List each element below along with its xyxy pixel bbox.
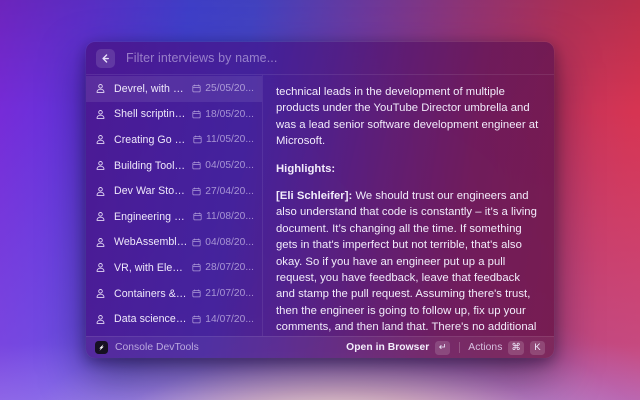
person-icon (95, 83, 106, 94)
back-button[interactable] (96, 49, 115, 68)
list-item-title: Dev War Stories,... (114, 185, 188, 197)
window-body: Devrel, with Chri...25/05/20...Shell scr… (86, 75, 554, 336)
person-icon (95, 237, 106, 248)
raycast-glyph-icon (97, 343, 106, 352)
interview-list[interactable]: Devrel, with Chri...25/05/20...Shell scr… (86, 75, 263, 336)
list-item[interactable]: Data science, wit...14/07/20... (86, 306, 262, 332)
list-item[interactable]: Building Tools D...04/05/20... (86, 153, 262, 179)
interview-detail-pane[interactable]: technical leads in the development of mu… (263, 75, 554, 336)
list-item-date: 11/08/20... (206, 211, 254, 222)
detail-quote-body: We should trust our engineers and also u… (276, 190, 541, 336)
list-item-date: 21/07/20... (205, 288, 254, 299)
detail-quote-paragraph: [Eli Schleifer]: We should trust our eng… (276, 188, 541, 336)
enter-key-badge[interactable]: ↵ (435, 341, 450, 355)
calendar-icon (193, 135, 202, 144)
person-icon (95, 109, 106, 120)
list-item-date: 27/04/20... (205, 186, 254, 197)
list-item-date: 11/05/20... (206, 134, 254, 145)
list-item[interactable]: VR, with Elena K...28/07/20... (86, 255, 262, 281)
person-icon (95, 288, 106, 299)
footer-divider (459, 342, 460, 353)
list-item-title: VR, with Elena K... (114, 262, 188, 274)
list-item[interactable]: Creating Go with...11/05/20... (86, 127, 262, 153)
list-item[interactable]: Devrel, with Chri...25/05/20... (86, 76, 262, 102)
list-item-date: 14/07/20... (205, 314, 254, 325)
list-item-date: 04/05/20... (205, 160, 254, 171)
list-item[interactable]: WebAssembly, w...04/08/20... (86, 230, 262, 256)
list-item-title: Data science, wit... (114, 313, 188, 325)
list-item-title: Shell scripting, wi... (114, 108, 188, 120)
calendar-icon (192, 263, 201, 272)
search-bar: Filter interviews by name... (86, 42, 554, 75)
list-item-title: Containers & Test... (114, 288, 188, 300)
list-item-title: Creating Go with... (114, 134, 189, 146)
detail-intro-paragraph: technical leads in the development of mu… (276, 84, 541, 150)
list-item-date: 25/05/20... (205, 83, 254, 94)
list-item-date: 28/07/20... (205, 262, 254, 273)
app-name-label: Console DevTools (115, 342, 199, 353)
k-key-badge[interactable]: K (530, 341, 545, 355)
calendar-icon (192, 238, 201, 247)
calendar-icon (192, 289, 201, 298)
search-input[interactable]: Filter interviews by name... (126, 51, 544, 65)
list-item-title: WebAssembly, w... (114, 236, 188, 248)
command-palette-window: Filter interviews by name... Devrel, wit… (86, 42, 554, 358)
person-icon (95, 314, 106, 325)
open-in-browser-button[interactable]: Open in Browser (346, 342, 429, 353)
calendar-icon (193, 212, 202, 221)
list-item[interactable]: Engineering Lead...11/08/20... (86, 204, 262, 230)
command-key-badge[interactable]: ⌘ (508, 341, 524, 355)
list-item-title: Building Tools D... (114, 160, 188, 172)
person-icon (95, 134, 106, 145)
list-item[interactable]: Shell scripting, wi...18/05/20... (86, 102, 262, 128)
raycast-logo-icon (95, 341, 108, 354)
list-item-title: Devrel, with Chri... (114, 83, 188, 95)
calendar-icon (192, 161, 201, 170)
detail-highlights-heading: Highlights: (276, 161, 541, 177)
calendar-icon (192, 110, 201, 119)
list-item-title: Engineering Lead... (114, 211, 189, 223)
calendar-icon (192, 84, 201, 93)
list-item[interactable]: Dev War Stories,...27/04/20... (86, 178, 262, 204)
actions-button[interactable]: Actions (468, 342, 502, 353)
window-footer: Console DevTools Open in Browser ↵ Actio… (86, 336, 554, 358)
calendar-icon (192, 187, 201, 196)
list-item[interactable]: Containers & Test...21/07/20... (86, 281, 262, 307)
person-icon (95, 186, 106, 197)
calendar-icon (192, 315, 201, 324)
list-item-date: 18/05/20... (205, 109, 254, 120)
person-icon (95, 160, 106, 171)
detail-quote-speaker: [Eli Schleifer]: (276, 190, 352, 202)
person-icon (95, 262, 106, 273)
arrow-left-icon (100, 53, 111, 64)
list-item-date: 04/08/20... (205, 237, 254, 248)
person-icon (95, 211, 106, 222)
